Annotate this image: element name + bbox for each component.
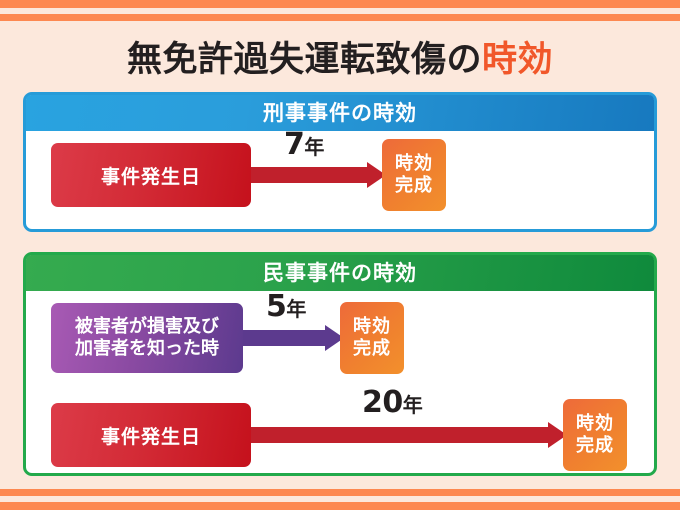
page-title: 無免許過失運転致傷の時効 (0, 31, 680, 82)
civil-end-node-5years: 時効 完成 (340, 302, 404, 374)
criminal-section-header: 刑事事件の時効 (26, 95, 654, 131)
civil-arrow-20years (241, 427, 567, 443)
bottom-stripe-inner (0, 489, 680, 496)
civil-section-header: 民事事件の時効 (26, 255, 654, 291)
criminal-arrow (241, 167, 386, 183)
page-title-main: 無免許過失運転致傷の (127, 40, 482, 80)
civil-duration-label-5years: 5年 (266, 289, 306, 324)
civil-start-node-victim-knowledge: 被害者が損害及び 加害者を知った時 (51, 303, 243, 373)
top-stripe-inner (0, 14, 680, 21)
civil-duration-number-20years: 20 (362, 385, 403, 420)
civil-arrow-5years-shaft (234, 330, 325, 346)
criminal-duration-unit: 年 (304, 135, 324, 159)
criminal-end-label-line2: 完成 (395, 175, 433, 197)
civil-start-label-line2: 加害者を知った時 (75, 338, 219, 360)
civil-end-label-20years-line2: 完成 (576, 435, 614, 457)
civil-start-label-line1: 被害者が損害及び (75, 316, 219, 338)
civil-arrow-5years (234, 330, 344, 346)
criminal-arrow-shaft (241, 167, 367, 183)
criminal-section-card: 刑事事件の時効 事件発生日 7年 時効 完成 (23, 92, 657, 232)
civil-duration-number-5years: 5 (266, 289, 286, 324)
civil-end-label-5years-line1: 時効 (353, 316, 391, 338)
civil-start-node-incident-date: 事件発生日 (51, 403, 251, 467)
criminal-duration-label: 7年 (284, 127, 324, 162)
criminal-start-node: 事件発生日 (51, 143, 251, 207)
civil-end-node-20years: 時効 完成 (563, 399, 627, 471)
civil-end-label-20years-line1: 時効 (576, 413, 614, 435)
civil-duration-unit-5years: 年 (286, 297, 306, 321)
civil-arrow-20years-shaft (241, 427, 548, 443)
civil-start-label-incident-date: 事件発生日 (101, 422, 201, 449)
criminal-duration-number: 7 (284, 127, 304, 162)
criminal-end-label-line1: 時効 (395, 153, 433, 175)
page-title-accent: 時効 (482, 40, 553, 80)
civil-section-card: 民事事件の時効 被害者が損害及び 加害者を知った時 5年 時効 完成 事件発 (23, 252, 657, 476)
civil-duration-unit-20years: 年 (403, 393, 423, 417)
criminal-end-node: 時効 完成 (382, 139, 446, 211)
civil-end-label-5years-line2: 完成 (353, 338, 391, 360)
bottom-stripe-outer (0, 502, 680, 510)
criminal-start-label: 事件発生日 (101, 162, 201, 189)
civil-duration-label-20years: 20年 (362, 385, 423, 420)
top-stripe-outer (0, 0, 680, 8)
